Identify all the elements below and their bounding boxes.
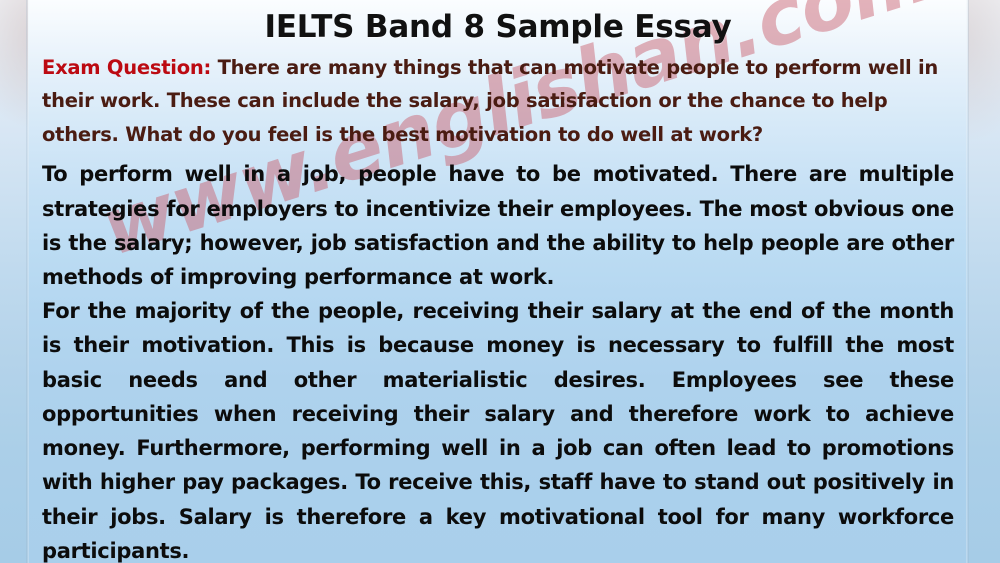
essay-paragraph-2: For the majority of the people, receivin… bbox=[28, 294, 968, 563]
essay-paragraph-1: To perform well in a job, people have to… bbox=[28, 157, 968, 294]
exam-question: Exam Question: There are many things tha… bbox=[28, 51, 968, 152]
page-title: IELTS Band 8 Sample Essay bbox=[28, 0, 968, 47]
document-body: IELTS Band 8 Sample Essay Exam Question:… bbox=[28, 0, 968, 563]
exam-question-label: Exam Question: bbox=[42, 56, 211, 79]
essay-page: www.englishan.com IELTS Band 8 Sample Es… bbox=[0, 0, 1000, 563]
